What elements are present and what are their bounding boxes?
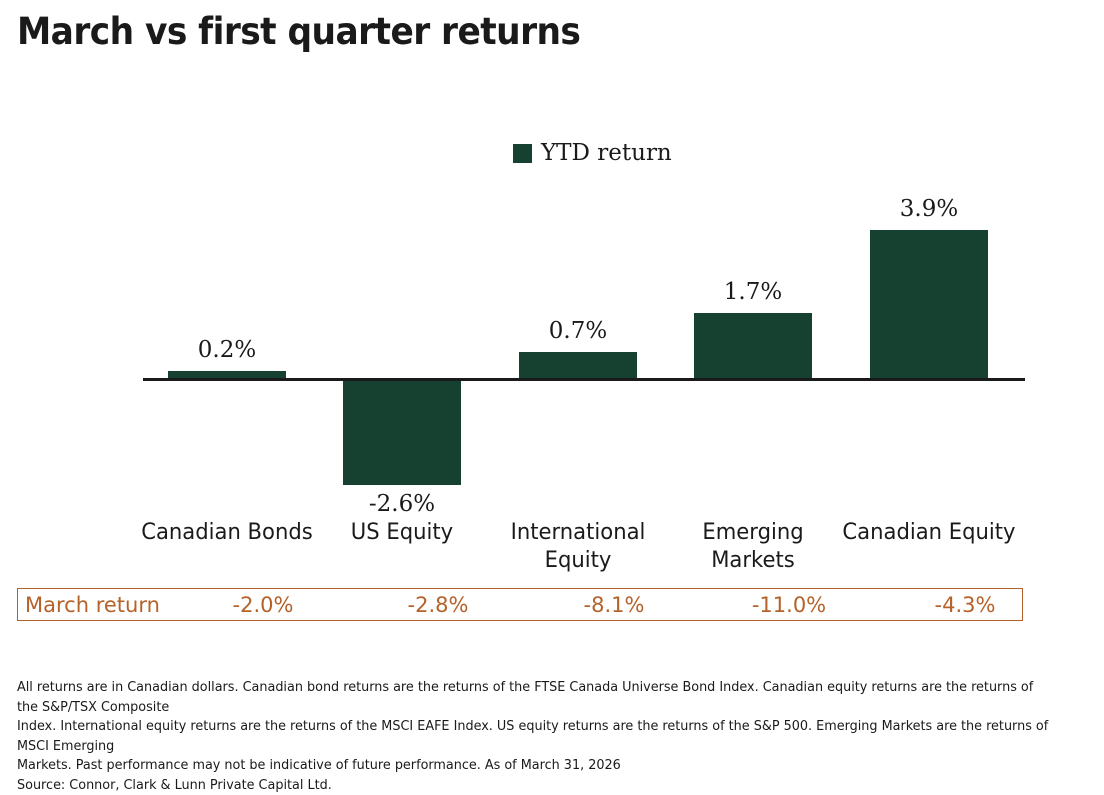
bar-emerging-markets	[694, 313, 812, 378]
bar-value-international-equity: 0.7%	[518, 318, 638, 344]
march-return-canadian-bonds: -2.0%	[168, 593, 358, 617]
zero-axis-line	[143, 378, 1025, 381]
bar-value-canadian-bonds: 0.2%	[167, 337, 287, 363]
category-label-line: Emerging	[702, 520, 803, 545]
category-label-canadian-equity: Canadian Equity	[838, 519, 1020, 547]
march-return-row-label: March return	[25, 593, 160, 617]
march-return-table: March return -2.0% -2.8% -8.1% -11.0% -4…	[17, 588, 1023, 621]
category-label-line: Canadian Equity	[842, 520, 1015, 545]
bar-us-equity	[343, 381, 461, 485]
footnote-block: All returns are in Canadian dollars. Can…	[17, 678, 1050, 795]
category-label-line: Markets	[711, 548, 795, 573]
bar-canadian-bonds	[168, 371, 286, 378]
category-label-line: Equity	[545, 548, 612, 573]
category-label-line: International	[511, 520, 646, 545]
bar-chart-plot-area: 0.2% -2.6% 0.7% 1.7% 3.9% Canadian Bonds…	[0, 0, 1104, 600]
bar-canadian-equity	[870, 230, 988, 378]
footnote-line-2: Index. International equity returns are …	[17, 717, 1050, 756]
march-return-canadian-equity: -4.3%	[870, 593, 1060, 617]
march-return-emerging-markets: -11.0%	[694, 593, 884, 617]
footnote-line-1: All returns are in Canadian dollars. Can…	[17, 678, 1050, 717]
march-return-international-equity: -8.1%	[519, 593, 709, 617]
bar-value-emerging-markets: 1.7%	[693, 279, 813, 305]
bar-value-canadian-equity: 3.9%	[869, 196, 989, 222]
bar-value-us-equity: -2.6%	[342, 491, 462, 517]
category-label-emerging-markets: Emerging Markets	[662, 519, 844, 575]
category-label-us-equity: US Equity	[311, 519, 493, 547]
category-label-line: Canadian Bonds	[141, 520, 313, 545]
footnote-source: Source: Connor, Clark & Lunn Private Cap…	[17, 776, 1050, 795]
march-return-us-equity: -2.8%	[343, 593, 533, 617]
category-label-international-equity: International Equity	[487, 519, 669, 575]
category-label-line: US Equity	[351, 520, 453, 545]
category-label-canadian-bonds: Canadian Bonds	[136, 519, 318, 547]
bar-international-equity	[519, 352, 637, 378]
